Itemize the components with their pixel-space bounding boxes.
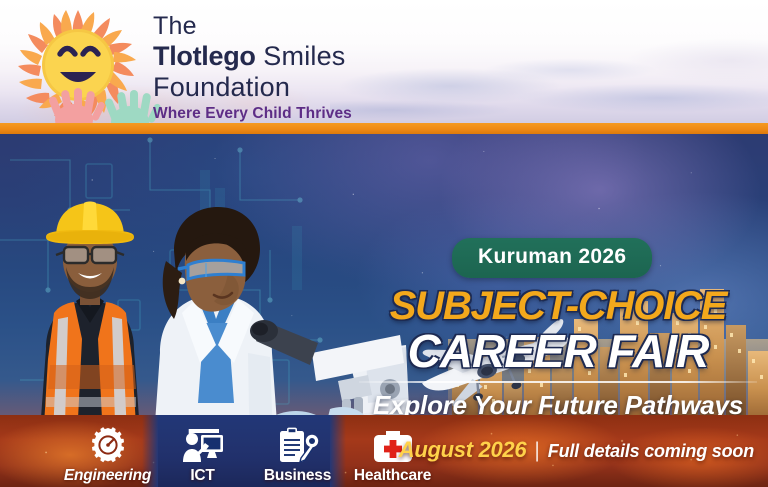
banner-header: The Tlotlego Smiles Foundation Where Eve…	[0, 0, 768, 126]
header-sky-texture	[330, 0, 768, 126]
handprints-icon	[40, 74, 170, 126]
brand-line-the: The	[153, 12, 393, 41]
brand-line-foundation: Foundation	[153, 72, 393, 103]
presentation-person-icon	[155, 424, 250, 464]
category-engineering[interactable]: Engineering	[60, 424, 155, 487]
date-separator: |	[534, 439, 539, 463]
headline-line-1: SUBJECT-CHOICE	[358, 285, 758, 327]
brand-name-rest: Smiles	[263, 41, 345, 71]
location-year-badge: Kuruman 2026	[452, 238, 652, 278]
category-ict[interactable]: ICT	[155, 424, 250, 487]
category-label: Healthcare	[345, 467, 440, 485]
category-label: ICT	[155, 467, 250, 485]
category-label: Business	[250, 467, 345, 485]
brand-name-bold: Tlotlego	[153, 41, 256, 71]
headline-rule	[359, 381, 757, 383]
clipboard-pen-icon	[250, 424, 345, 464]
headline-line-2: CAREER FAIR	[358, 327, 758, 375]
gear-icon	[60, 424, 155, 464]
header-divider	[0, 123, 768, 134]
category-business[interactable]: Business	[250, 424, 345, 487]
banner-artwork: Kuruman 2026 SUBJECT-CHOICE CAREER FAIR …	[0, 130, 768, 487]
brand-line-name: Tlotlego Smiles	[153, 41, 393, 72]
career-fair-banner: The Tlotlego Smiles Foundation Where Eve…	[0, 0, 768, 487]
brand-wordmark: The Tlotlego Smiles Foundation Where Eve…	[153, 12, 393, 123]
headline-block: SUBJECT-CHOICE CAREER FAIR Explore Your …	[358, 285, 758, 421]
event-date-row: August 2026 | Full details coming soon	[399, 437, 754, 463]
bottom-band: Engineering	[0, 415, 768, 487]
brand-tagline: Where Every Child Thrives	[153, 105, 393, 123]
category-list: Engineering	[60, 417, 440, 487]
event-date: August 2026	[399, 437, 527, 463]
category-label: Engineering	[60, 467, 155, 485]
event-note: Full details coming soon	[548, 441, 754, 462]
